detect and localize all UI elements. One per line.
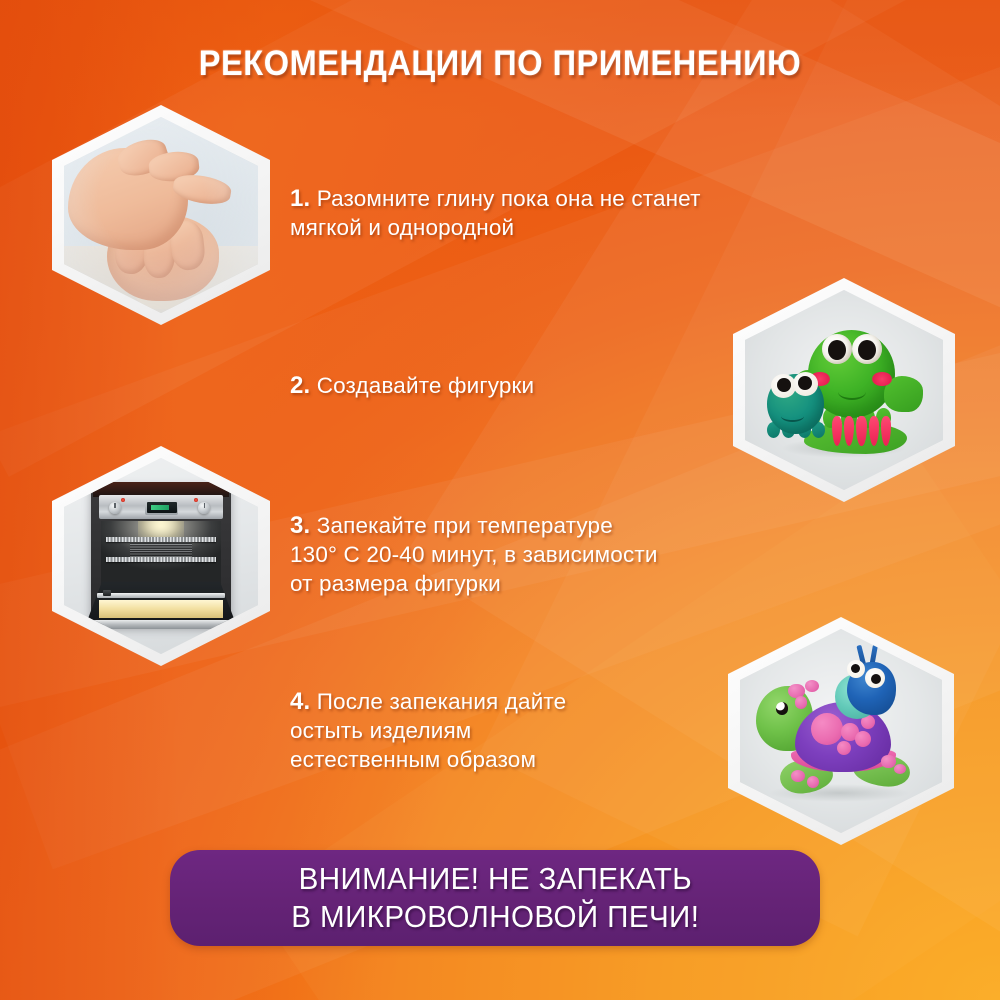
step-3-number: 3.: [290, 512, 310, 539]
step-4: 4. После запекания дайте остыть изделиям…: [290, 687, 770, 774]
step-2-text: Создавайте фигурки: [317, 373, 534, 398]
kneading-clay-illustration: [64, 117, 258, 313]
step-4-text: После запекания дайте остыть изделиям ес…: [290, 689, 566, 772]
step-3-text: Запекайте при температуре 130° С 20-40 м…: [290, 513, 658, 596]
step-2-number: 2.: [290, 372, 310, 399]
oven-illustration: [64, 458, 258, 654]
page-title: РЕКОМЕНДАЦИИ ПО ПРИМЕНЕНИЮ: [35, 44, 965, 84]
clay-turtle-snail-illustration: [740, 629, 942, 833]
step-1-text: Разомните глину пока она не станет мягко…: [290, 186, 701, 240]
step-4-number: 4.: [290, 688, 310, 715]
warning-banner: ВНИМАНИЕ! НЕ ЗАПЕКАТЬ В МИКРОВОЛНОВОЙ ПЕ…: [170, 850, 820, 946]
hexagon-inner-frame: [740, 629, 942, 833]
warning-text: ВНИМАНИЕ! НЕ ЗАПЕКАТЬ В МИКРОВОЛНОВОЙ ПЕ…: [291, 860, 699, 936]
step-1-number: 1.: [290, 185, 310, 212]
hexagon-inner-frame: [64, 117, 258, 313]
step-1: 1. Разомните глину пока она не станет мя…: [290, 184, 890, 242]
step-3: 3. Запекайте при температуре 130° С 20-4…: [290, 511, 870, 598]
hexagon-inner-frame: [64, 458, 258, 654]
step-2: 2. Создавайте фигурки: [290, 371, 790, 400]
